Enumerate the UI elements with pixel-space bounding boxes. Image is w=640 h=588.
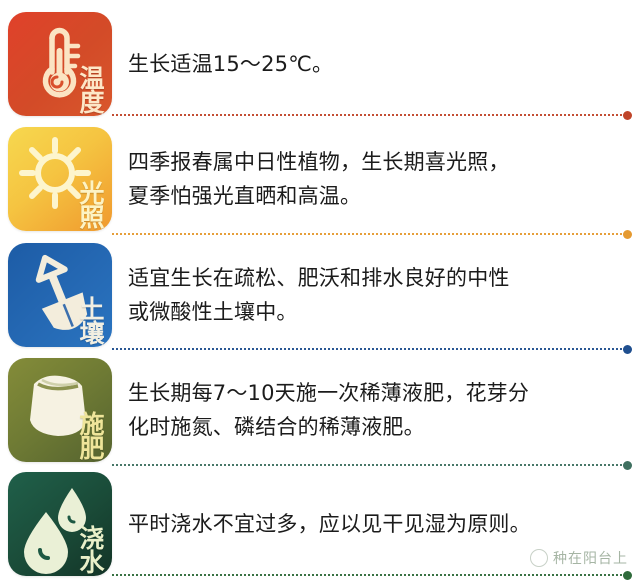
care-text-light: 四季报春属中日性植物，生长期喜光照，夏季怕强光直晒和高温。 — [128, 145, 518, 213]
divider-temperature — [112, 110, 632, 120]
care-text-soil: 适宜生长在疏松、肥沃和排水良好的中性或微酸性土壤中。 — [128, 261, 528, 329]
icon-label-fertilizer: 施肥 — [77, 413, 107, 460]
divider-soil — [112, 344, 632, 354]
text-cell-temperature: 生长适温15～25℃。 — [118, 12, 640, 116]
divider-dot — [623, 461, 632, 470]
care-row-temperature: 温度 生长适温15～25℃。 — [0, 12, 640, 116]
divider-line — [112, 233, 622, 235]
care-text-watering: 平时浇水不宜过多，应以见干见湿为原则。 — [128, 507, 531, 541]
divider-line — [112, 114, 622, 116]
divider-light — [112, 229, 632, 239]
icon-label-watering: 浇水 — [77, 527, 107, 574]
icon-cell-fertilizer: 施肥 — [0, 358, 118, 462]
icon-label-soil: 土壤 — [77, 298, 107, 345]
text-cell-soil: 适宜生长在疏松、肥沃和排水良好的中性或微酸性土壤中。 — [118, 243, 640, 347]
divider-line — [112, 464, 622, 466]
text-cell-light: 四季报春属中日性植物，生长期喜光照，夏季怕强光直晒和高温。 — [118, 127, 640, 231]
icon-tile-temperature: 温度 — [8, 12, 112, 116]
divider-dot — [623, 230, 632, 239]
watermark-text: 种在阳台上 — [553, 548, 628, 568]
icon-tile-fertilizer: 施肥 — [8, 358, 112, 462]
care-row-soil: 土壤 适宜生长在疏松、肥沃和排水良好的中性或微酸性土壤中。 — [0, 243, 640, 347]
divider-dot — [623, 571, 632, 580]
icon-cell-temperature: 温度 — [0, 12, 118, 116]
icon-cell-watering: 浇水 — [0, 472, 118, 576]
divider-line — [112, 348, 622, 350]
icon-tile-soil: 土壤 — [8, 243, 112, 347]
care-row-fertilizer: 施肥 生长期每7～10天施一次稀薄液肥，花芽分化时施氮、磷结合的稀薄液肥。 — [0, 358, 640, 462]
watermark: 种在阳台上 — [530, 548, 628, 568]
divider-line — [112, 574, 622, 576]
icon-cell-light: 光照 — [0, 127, 118, 231]
divider-dot — [623, 345, 632, 354]
divider-fertilizer — [112, 460, 632, 470]
plant-care-infographic: 温度 生长适温15～25℃。 — [0, 0, 640, 588]
divider-dot — [623, 111, 632, 120]
care-text-temperature: 生长适温15～25℃。 — [128, 47, 333, 81]
icon-tile-light: 光照 — [8, 127, 112, 231]
care-row-light: 光照 四季报春属中日性植物，生长期喜光照，夏季怕强光直晒和高温。 — [0, 127, 640, 231]
icon-tile-watering: 浇水 — [8, 472, 112, 576]
icon-cell-soil: 土壤 — [0, 243, 118, 347]
care-text-fertilizer: 生长期每7～10天施一次稀薄液肥，花芽分化时施氮、磷结合的稀薄液肥。 — [128, 376, 548, 444]
icon-label-temperature: 温度 — [77, 67, 107, 114]
icon-label-light: 光照 — [77, 182, 107, 229]
circular-logo-icon — [530, 549, 548, 567]
text-cell-fertilizer: 生长期每7～10天施一次稀薄液肥，花芽分化时施氮、磷结合的稀薄液肥。 — [118, 358, 640, 462]
divider-watering — [112, 570, 632, 580]
